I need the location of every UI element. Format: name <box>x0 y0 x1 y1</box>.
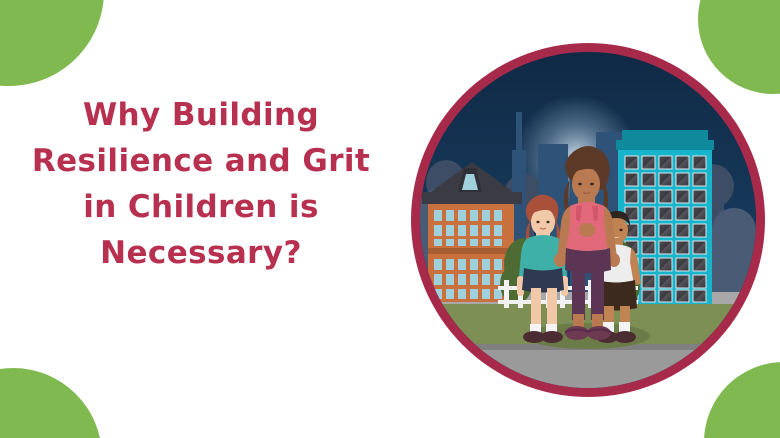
page-title-line-1: Why Building <box>14 92 388 138</box>
page-title-line-2: Resilience and Grit <box>14 138 388 184</box>
page-title-line-4: Necessary? <box>14 230 388 276</box>
sidewalk-front <box>420 348 756 388</box>
decorative-circle-top-right <box>698 0 780 94</box>
illustration-circular-frame <box>411 43 765 397</box>
page-title-line-3: in Children is <box>14 184 388 230</box>
illustration-clip <box>420 52 756 388</box>
decorative-circle-top-left <box>0 0 104 86</box>
decorative-circle-bottom-right <box>704 362 780 438</box>
slide-canvas: Why Building Resilience and Grit in Chil… <box>0 0 780 438</box>
decorative-circle-bottom-left <box>0 368 102 438</box>
family-city-illustration <box>420 52 756 388</box>
page-title: Why Building Resilience and Grit in Chil… <box>14 92 388 276</box>
